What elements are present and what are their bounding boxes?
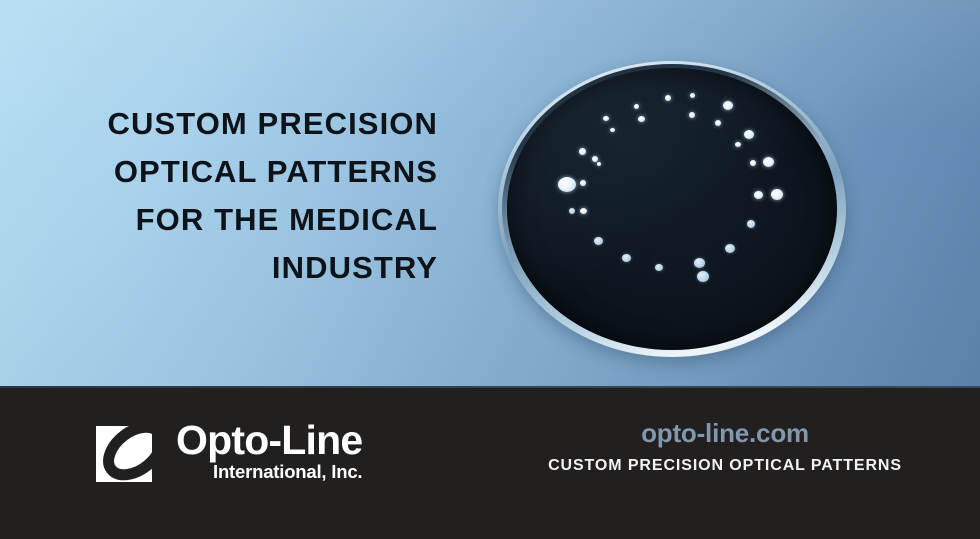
disc-dot (597, 162, 601, 166)
headline-line-3: FOR THE MEDICAL (60, 196, 438, 244)
disc-dot (694, 258, 705, 268)
disc-sheen (507, 68, 837, 350)
disc-dot (603, 116, 609, 121)
disc-dot (610, 128, 615, 132)
disc-dot (594, 237, 603, 245)
disc-dot (725, 244, 735, 253)
logo-wordmark: Opto-Line International, Inc. (176, 418, 362, 483)
disc-dot (771, 189, 783, 200)
logo-company-name: Opto-Line (176, 420, 362, 460)
headline-line-1: CUSTOM PRECISION (60, 100, 438, 148)
disc-dot (655, 264, 663, 271)
disc-dot (579, 148, 586, 155)
website-url-link[interactable]: opto-line.com (530, 418, 920, 448)
disc-dot (744, 130, 754, 139)
headline-line-4: INDUSTRY (60, 244, 438, 292)
disc-dot (697, 271, 709, 282)
disc-dot (747, 220, 755, 228)
headline-line-2: OPTICAL PATTERNS (60, 148, 438, 196)
disc-dot (665, 95, 671, 101)
marketing-banner: CUSTOM PRECISION OPTICAL PATTERNS FOR TH… (0, 0, 980, 539)
disc-dot (580, 208, 587, 214)
page-title: CUSTOM PRECISION OPTICAL PATTERNS FOR TH… (60, 100, 438, 292)
disc-face (507, 68, 837, 350)
footer-contact-block: opto-line.com CUSTOM PRECISION OPTICAL P… (530, 418, 920, 477)
disc-dot (689, 112, 695, 118)
disc-dot (634, 104, 639, 109)
disc-dot (592, 156, 598, 162)
logo-ellipse-ring-icon (102, 418, 168, 484)
disc-dot (580, 180, 586, 186)
disc-dot (715, 120, 721, 126)
disc-dot (622, 254, 631, 262)
disc-dot (763, 157, 774, 167)
disc-dot (735, 142, 741, 147)
disc-dot (638, 116, 645, 122)
disc-dot (723, 101, 733, 110)
opto-line-logo-icon (96, 418, 168, 490)
optical-disc-image (494, 55, 854, 363)
disc-dot (569, 208, 575, 214)
disc-dot (690, 93, 695, 98)
disc-dot (754, 191, 763, 199)
hero-section: CUSTOM PRECISION OPTICAL PATTERNS FOR TH… (0, 0, 980, 386)
disc-dot (750, 160, 756, 166)
disc-dot (558, 177, 576, 192)
footer-tagline: CUSTOM PRECISION OPTICAL PATTERNS (530, 455, 920, 477)
footer-top-hairline (0, 386, 980, 388)
logo-company-subtitle: International, Inc. (176, 461, 362, 483)
brand-logo[interactable]: Opto-Line International, Inc. (96, 418, 362, 490)
